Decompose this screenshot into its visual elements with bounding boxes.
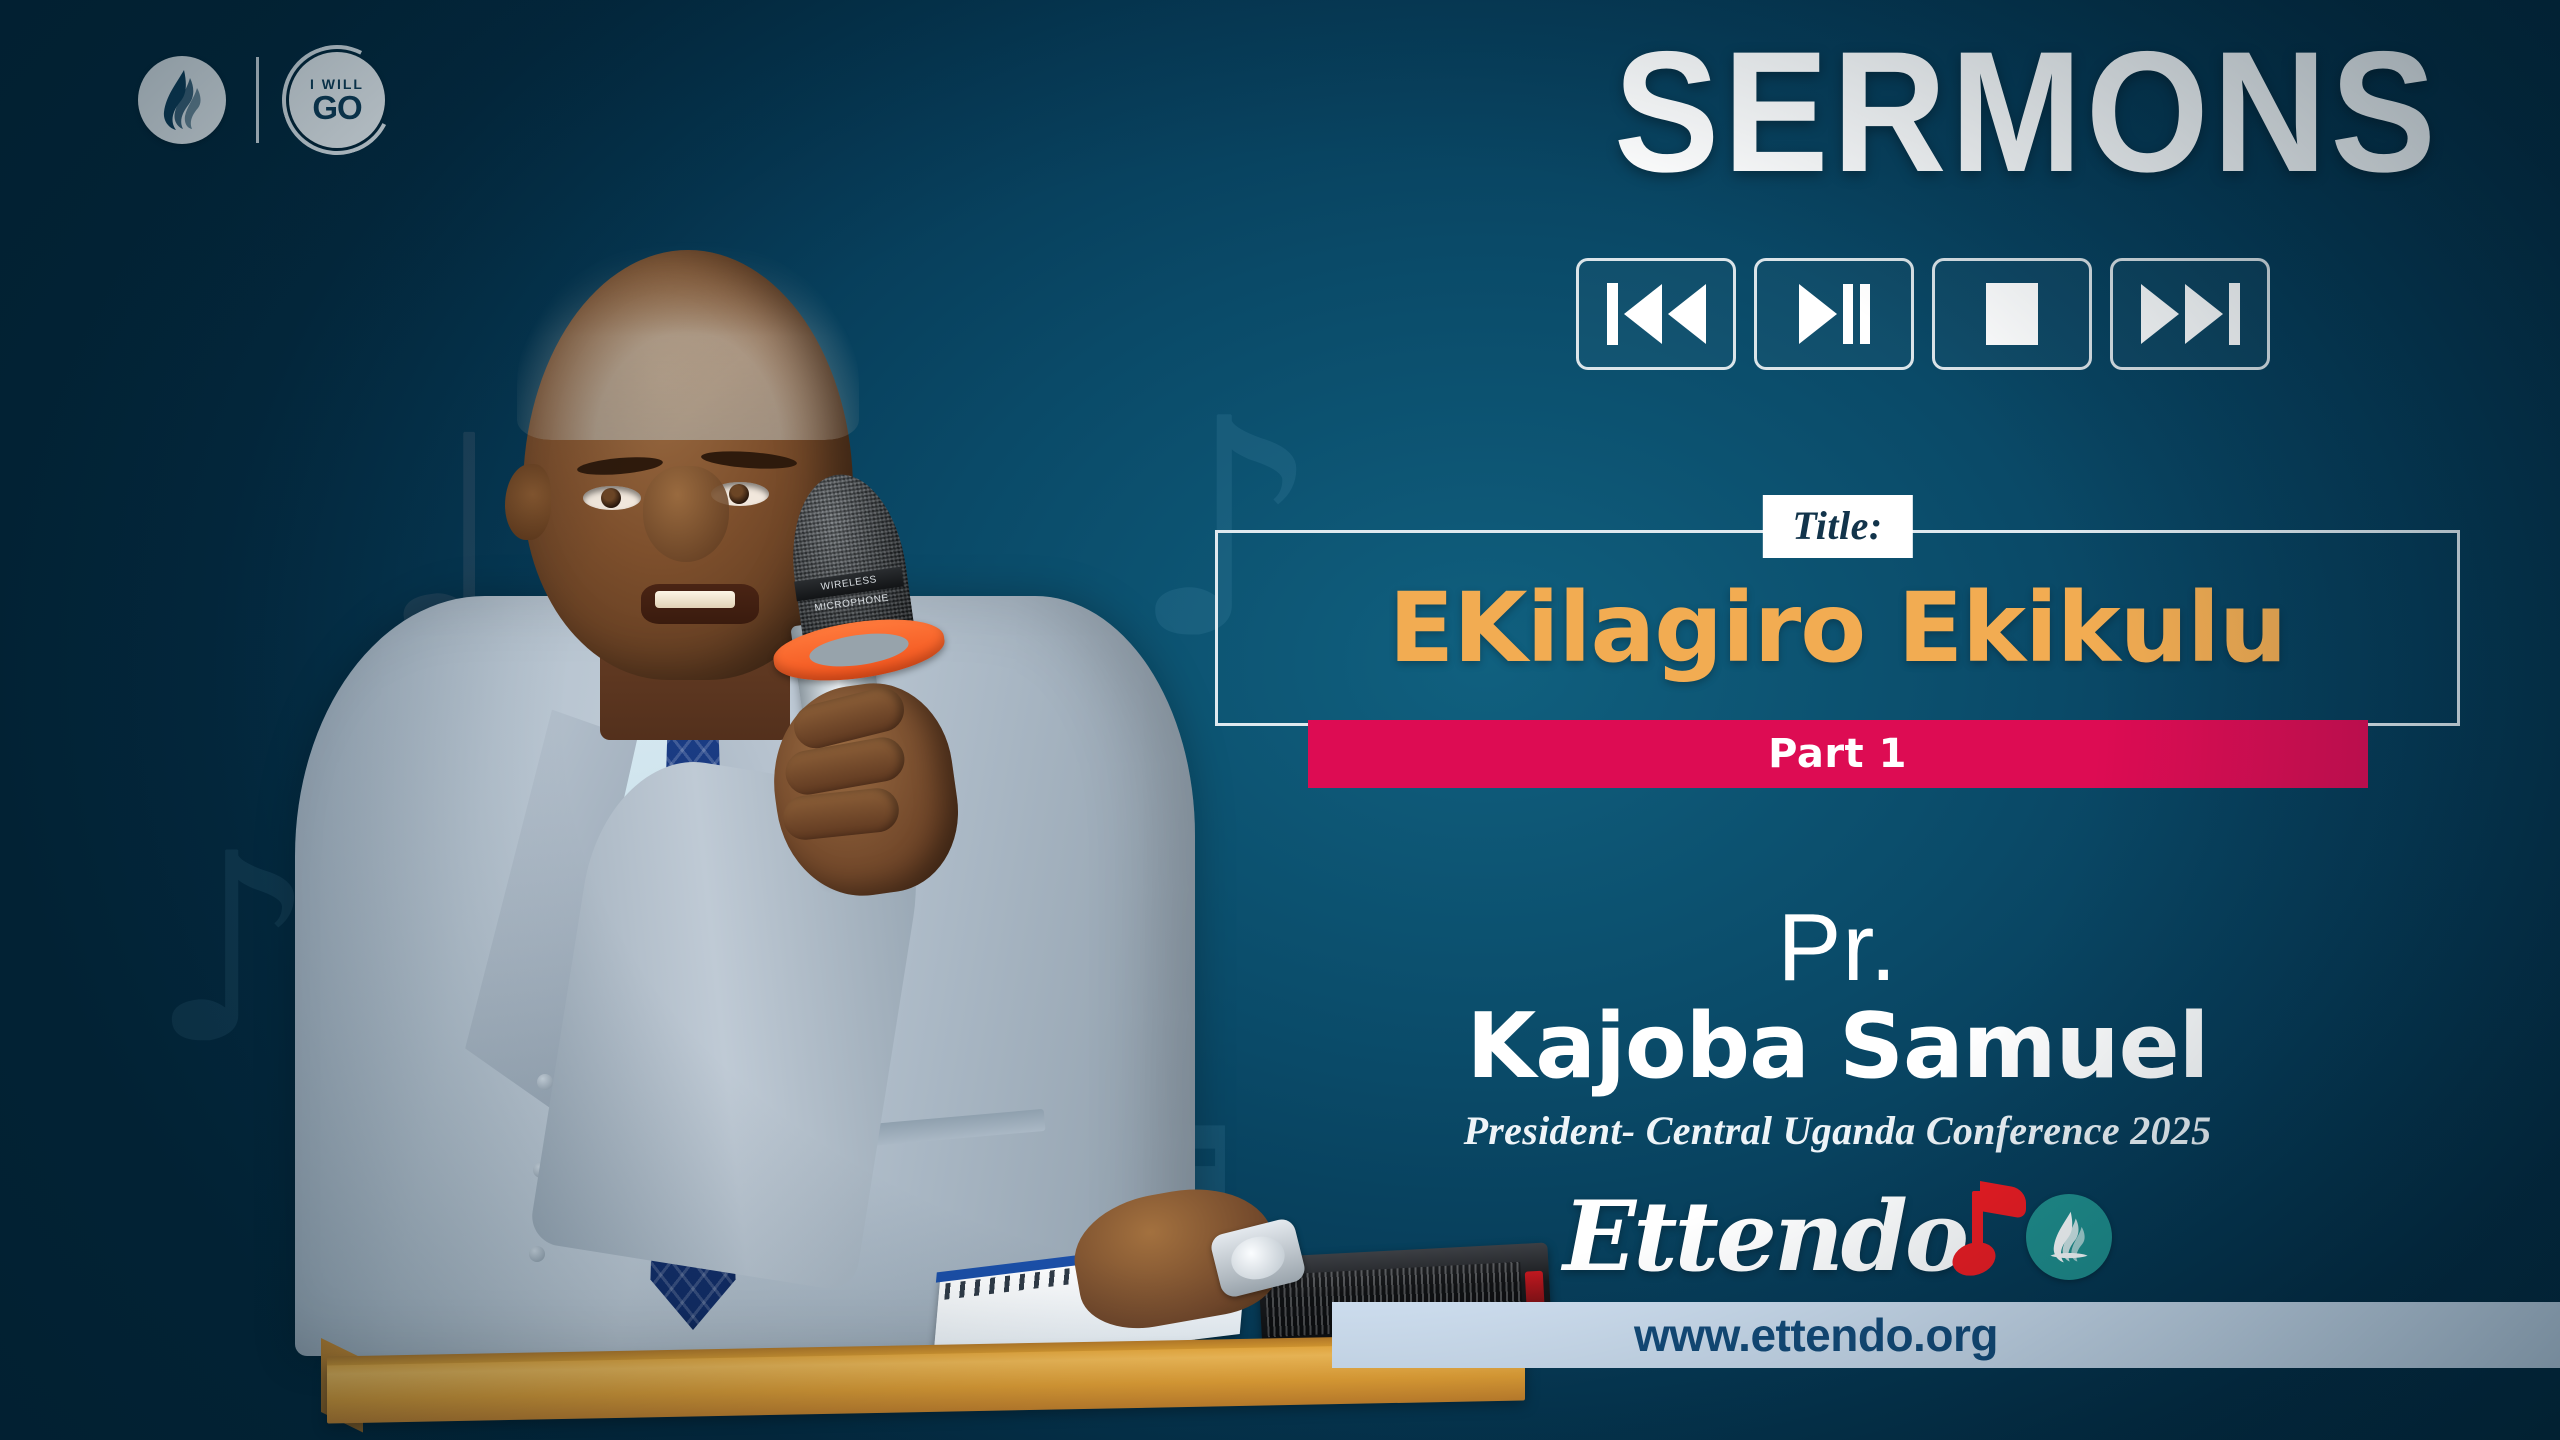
ettendo-logo: Ettendo <box>1215 1185 2460 1289</box>
media-controls[interactable] <box>1576 258 2270 370</box>
website-url-bar[interactable]: www.ettendo.org <box>1332 1302 2560 1368</box>
next-triangle-icon <box>2185 284 2223 344</box>
jacket-button <box>529 1246 545 1262</box>
music-note-icon <box>1956 1185 2034 1289</box>
title-frame: Title: EKilagiro Ekikulu <box>1215 530 2460 726</box>
speaker-prefix: Pr. <box>1215 900 2460 996</box>
i-will-go-badge-icon: I WILL GO <box>289 52 385 148</box>
pause-bars-icon <box>1843 284 1870 344</box>
stop-square-icon <box>1986 283 2038 345</box>
prev-triangle-icon <box>1668 284 1706 344</box>
part-bar: Part 1 <box>1308 720 2368 788</box>
hair <box>517 240 859 440</box>
stop-button[interactable] <box>1932 258 2092 370</box>
ettendo-wordmark: Ettendo <box>1563 1189 1966 1285</box>
speaker-role: President- Central Uganda Conference 202… <box>1215 1107 2460 1154</box>
sermon-title-block: Title: EKilagiro Ekikulu Part 1 <box>1215 530 2460 788</box>
speaker-block: Pr. Kajoba Samuel President- Central Uga… <box>1215 900 2460 1154</box>
prev-triangle-icon <box>1624 284 1662 344</box>
prev-bar-icon <box>1607 283 1618 345</box>
page-title: SERMONS <box>1614 22 2440 203</box>
next-track-button[interactable] <box>2110 258 2270 370</box>
ear <box>505 464 551 540</box>
title-tag-label: Title: <box>1762 495 1912 558</box>
website-url: www.ettendo.org <box>1634 1308 1998 1362</box>
previous-track-button[interactable] <box>1576 258 1736 370</box>
mouth <box>641 584 759 624</box>
next-triangle-icon <box>2141 284 2179 344</box>
i-will-go-line1: I WILL <box>310 76 364 92</box>
sermon-title: EKilagiro Ekikulu <box>1389 572 2287 684</box>
play-triangle-icon <box>1799 284 1837 344</box>
next-bar-icon <box>2229 283 2240 345</box>
banner-stage: ♪ ♪ ♫ ♩ ♪ ♫ ♬ ♪ WIRELESS MICROPHONE <box>0 0 2560 1440</box>
logo-row: I WILL GO <box>138 52 385 148</box>
part-label: Part 1 <box>1768 731 1907 777</box>
i-will-go-line2-text: GO <box>312 92 361 123</box>
speaker-name: Kajoba Samuel <box>1215 1000 2460 1095</box>
eye-left <box>583 486 641 510</box>
play-pause-button[interactable] <box>1754 258 1914 370</box>
logo-divider <box>256 57 259 143</box>
jacket-button <box>537 1074 553 1090</box>
adventist-flame-icon <box>2026 1194 2112 1280</box>
speaker-portrait: WIRELESS MICROPHONE <box>145 50 1325 1440</box>
nose <box>643 466 729 562</box>
i-will-go-line2: GO <box>312 92 361 123</box>
seventh-day-adventist-flame-icon <box>138 56 226 144</box>
